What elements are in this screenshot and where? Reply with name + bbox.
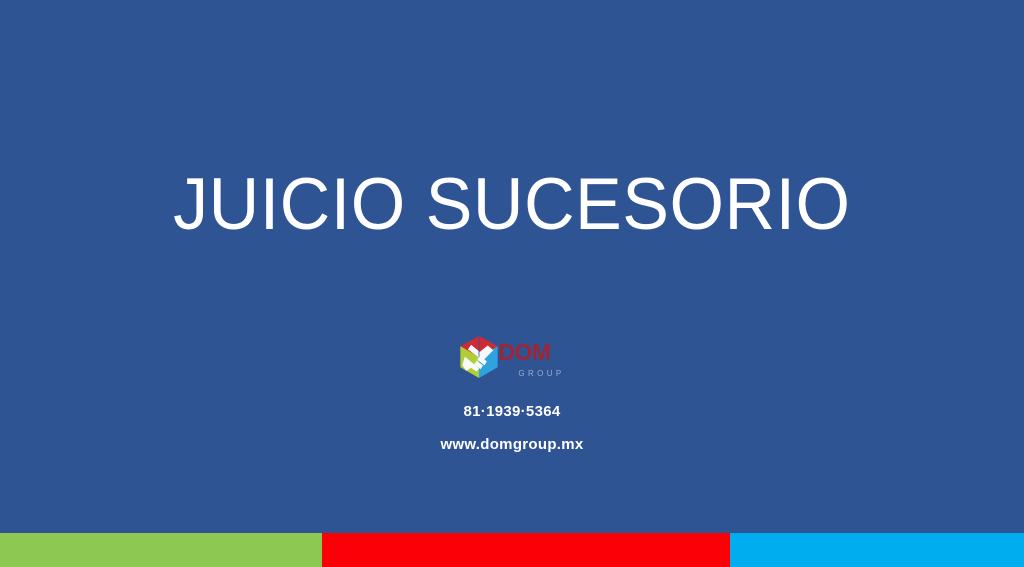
- logo-inner: DOM GROUP: [459, 336, 564, 378]
- footer-bar-red: [322, 533, 730, 567]
- footer-bar-green: [0, 533, 322, 567]
- logo-text-group: DOM GROUP: [498, 337, 564, 378]
- contact-website: www.domgroup.mx: [0, 437, 1024, 452]
- footer-bar-blue: [730, 533, 1024, 567]
- brand-logo: DOM GROUP: [0, 336, 1024, 378]
- logo-subtitle: GROUP: [518, 370, 564, 378]
- logo-wordmark: DOM: [498, 341, 550, 364]
- page-title: JUICIO SUCESORIO: [173, 168, 850, 241]
- footer-color-bars: [0, 533, 1024, 567]
- handshake-hexagon-icon: [459, 336, 499, 378]
- title-container: JUICIO SUCESORIO: [0, 168, 1024, 241]
- presentation-slide: JUICIO SUCESORIO: [0, 0, 1024, 567]
- contact-phone: 81·1939·5364: [0, 404, 1024, 419]
